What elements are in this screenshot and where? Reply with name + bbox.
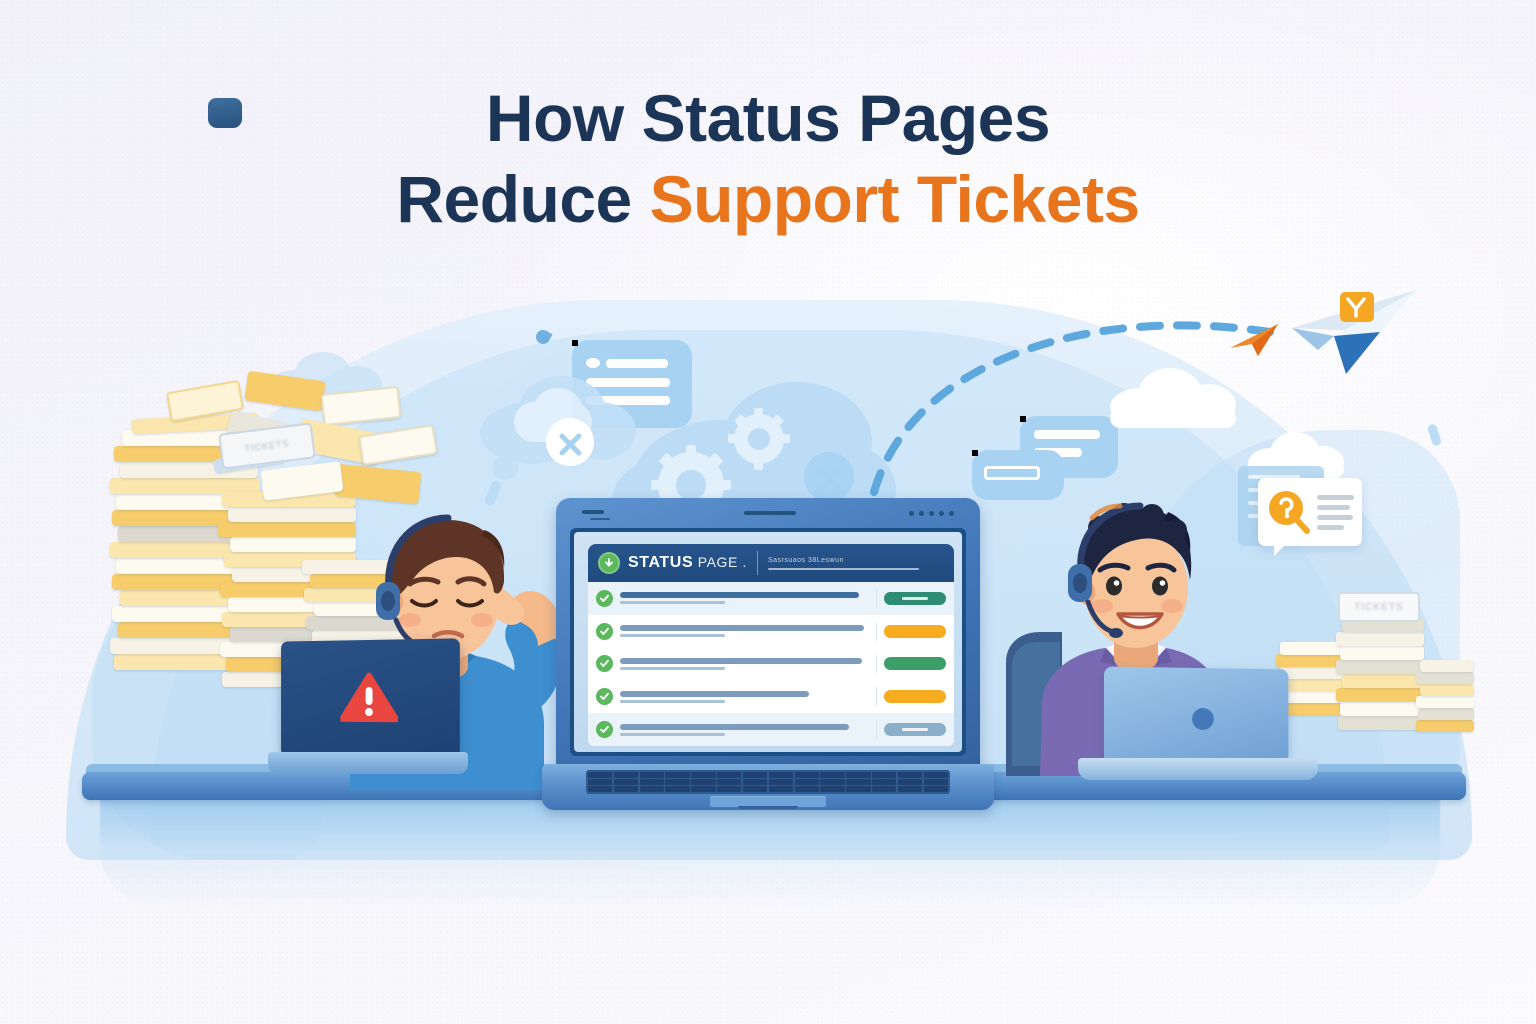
status-page-screen[interactable]: STATUS PAGE . Sasrsuaos 38Leswun <box>574 532 962 752</box>
close-x-icon <box>804 452 854 502</box>
title-line-1: How Status Pages <box>0 78 1536 159</box>
row-divider <box>876 655 877 674</box>
title-line-2: Reduce Support Tickets <box>0 159 1536 240</box>
gear-icon <box>734 414 784 464</box>
status-badge <box>884 690 946 703</box>
status-badge <box>884 657 946 670</box>
right-laptop-base <box>1078 758 1318 780</box>
envelope-label-text: TICKETS <box>244 438 290 453</box>
warning-triangle-icon <box>340 672 398 722</box>
row-divider <box>876 589 877 608</box>
bezel-mark-left-2 <box>590 518 610 520</box>
right-laptop-lid <box>1104 666 1288 765</box>
download-circle-icon[interactable] <box>598 552 620 574</box>
title-line-2-part2: Support Tickets <box>650 162 1140 236</box>
ticket-stack-label-text: TICKETS <box>1354 602 1403 613</box>
left-laptop-screen <box>281 638 460 759</box>
confetti-mark <box>1427 423 1442 447</box>
status-page-meta: Sasrsuaos 38Leswun <box>768 557 944 570</box>
ticket-stack-label: TICKETS <box>1338 592 1420 622</box>
check-circle-icon <box>596 655 613 672</box>
laptop-top-bezel <box>556 498 980 528</box>
left-laptop <box>268 640 464 780</box>
faq-card-lines <box>1317 495 1354 530</box>
laptop-base <box>542 764 994 810</box>
row-text-placeholder <box>620 691 869 703</box>
check-circle-icon <box>596 721 613 738</box>
left-laptop-base <box>268 752 468 774</box>
title-line-2-part1: Reduce <box>396 162 649 236</box>
laptop-keyboard[interactable] <box>586 770 950 794</box>
check-circle-icon <box>596 590 613 607</box>
bezel-dots <box>909 511 954 516</box>
right-laptop <box>1078 668 1314 788</box>
row-divider <box>876 622 877 641</box>
status-page-title: STATUS PAGE . <box>628 554 747 572</box>
status-badge <box>884 625 946 638</box>
status-page-rows <box>588 582 954 746</box>
close-x-icon <box>546 418 594 466</box>
status-page-meta-underline <box>768 568 919 570</box>
status-badge <box>884 592 946 605</box>
row-text-placeholder <box>620 625 869 637</box>
table-row[interactable] <box>588 680 954 713</box>
row-divider <box>876 687 877 706</box>
row-text-placeholder <box>620 724 869 736</box>
laptop-notch <box>738 806 798 809</box>
table-row[interactable] <box>588 713 954 746</box>
status-page-title-strong: STATUS <box>628 554 693 571</box>
status-badge <box>884 723 946 736</box>
page-title: How Status Pages Reduce Support Tickets <box>0 78 1536 239</box>
table-row[interactable] <box>588 648 954 681</box>
bezel-mark-left <box>582 510 604 514</box>
illustration-canvas: TICKETS <box>0 0 1536 1024</box>
table-row[interactable] <box>588 615 954 648</box>
status-page-meta-text: Sasrsuaos 38Leswun <box>768 557 944 564</box>
header-divider <box>757 551 758 575</box>
laptop-speaker-grille <box>744 511 796 515</box>
row-text-placeholder <box>620 658 869 670</box>
paper-plane-icon <box>1228 318 1282 360</box>
paper-plane-icon <box>1284 288 1420 382</box>
row-divider <box>876 720 877 739</box>
table-row[interactable] <box>588 582 954 615</box>
status-page-header: STATUS PAGE . Sasrsuaos 38Leswun <box>588 544 954 582</box>
check-circle-icon <box>596 623 613 640</box>
laptop-logo <box>1192 708 1214 730</box>
status-page-title-light: PAGE . <box>693 554 747 570</box>
row-text-placeholder <box>620 592 869 604</box>
status-page-laptop: STATUS PAGE . Sasrsuaos 38Leswun <box>556 498 980 818</box>
check-circle-icon <box>596 688 613 705</box>
